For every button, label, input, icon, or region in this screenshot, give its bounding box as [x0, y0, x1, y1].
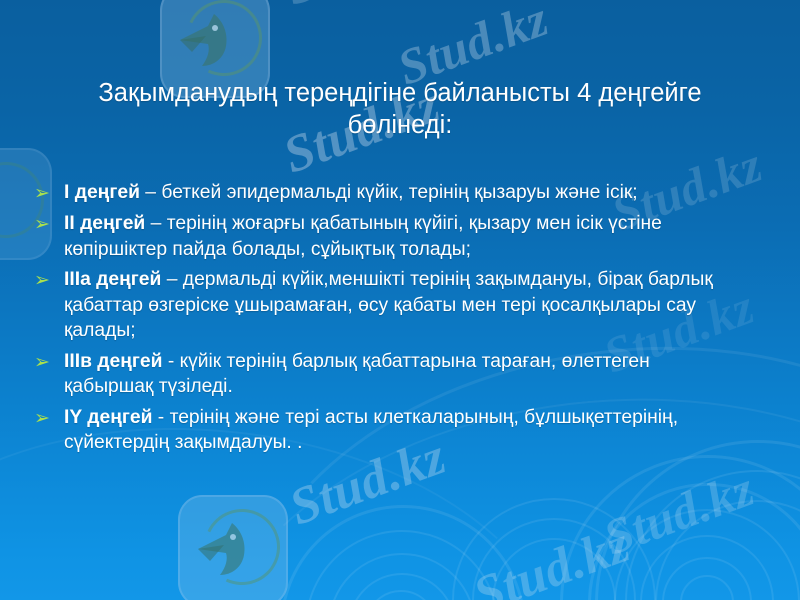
list-item-text: I деңгей – беткей эпидермальді күйік, те… — [64, 180, 744, 206]
ripple-ring — [452, 498, 656, 600]
stud-kz-watermark: Stud.kz — [274, 0, 478, 21]
arrow-bullet-icon: ➢ — [34, 211, 64, 237]
ripple-ring — [662, 557, 752, 600]
list-item: ➢ IY деңгей - терінің және тері асты кле… — [34, 405, 744, 456]
ripple-ring — [625, 470, 800, 600]
logo-ring — [175, 0, 272, 87]
logo-bird-icon — [168, 4, 260, 78]
ripple-ring — [492, 538, 616, 600]
arrow-bullet-icon: ➢ — [34, 267, 64, 293]
level-label: IY деңгей — [64, 407, 152, 428]
brand-logo-watermark — [178, 495, 288, 600]
level-label: I деңгей — [64, 182, 140, 203]
arrow-bullet-icon: ➢ — [34, 349, 64, 375]
list-item: ➢ I деңгей – беткей эпидермальді күйік, … — [34, 180, 744, 206]
ripple-ring — [472, 518, 636, 600]
ripple-ring — [640, 535, 774, 600]
slide-canvas: Stud.kz Stud.kz Stud.kz Stud.kz Stud.kz … — [0, 0, 800, 600]
ripple-ring — [365, 590, 437, 600]
ripple-ring — [588, 483, 800, 600]
slide-title: Зақымданудың тереңдігіне байланысты 4 де… — [70, 78, 730, 142]
ripple-ring — [305, 530, 499, 600]
list-item-text: IY деңгей - терінің және тері асты клетк… — [64, 405, 744, 456]
ripple-ring — [614, 509, 800, 600]
level-label: IIIв деңгей — [64, 351, 163, 372]
ripple-ring — [348, 573, 456, 600]
bullet-list: ➢ I деңгей – беткей эпидермальді күйік, … — [34, 180, 744, 461]
stud-kz-watermark: Stud.kz — [466, 515, 637, 600]
list-item-text: IIIв деңгей - күйік терінің барлық қабат… — [64, 349, 744, 400]
list-item-text: II деңгей – терінің жоғарғы қабатының кү… — [64, 211, 744, 262]
logo-plate — [178, 495, 288, 600]
ripple-ring — [680, 575, 734, 600]
logo-bird-icon — [186, 513, 278, 587]
arrow-bullet-icon: ➢ — [34, 180, 64, 206]
ripple-ring — [328, 553, 476, 600]
level-description: – дермальді күйік,меншікті терінің зақым… — [64, 269, 713, 341]
list-item: ➢ II деңгей – терінің жоғарғы қабатының … — [34, 211, 744, 262]
stud-kz-watermark: Stud.kz — [596, 459, 761, 567]
ripple-ring — [280, 505, 526, 600]
level-label: IIIa деңгей — [64, 269, 161, 290]
logo-ring — [193, 498, 290, 595]
list-item-text: IIIa деңгей – дермальді күйік,меншікті т… — [64, 267, 744, 344]
ripple-ring — [655, 500, 800, 600]
level-label: II деңгей — [64, 213, 145, 234]
ripple-ring — [595, 440, 800, 600]
level-description: - терінің және тері асты клеткаларының, … — [64, 407, 678, 454]
arrow-bullet-icon: ➢ — [34, 405, 64, 431]
list-item: ➢ IIIв деңгей - күйік терінің барлық қаб… — [34, 349, 744, 400]
list-item: ➢ IIIa деңгей – дермальді күйік,меншікті… — [34, 267, 744, 344]
level-description: – терінің жоғарғы қабатының күйігі, қыза… — [64, 213, 662, 260]
level-description: – беткей эпидермальді күйік, терінің қыз… — [140, 182, 638, 203]
ripple-ring — [560, 455, 800, 600]
